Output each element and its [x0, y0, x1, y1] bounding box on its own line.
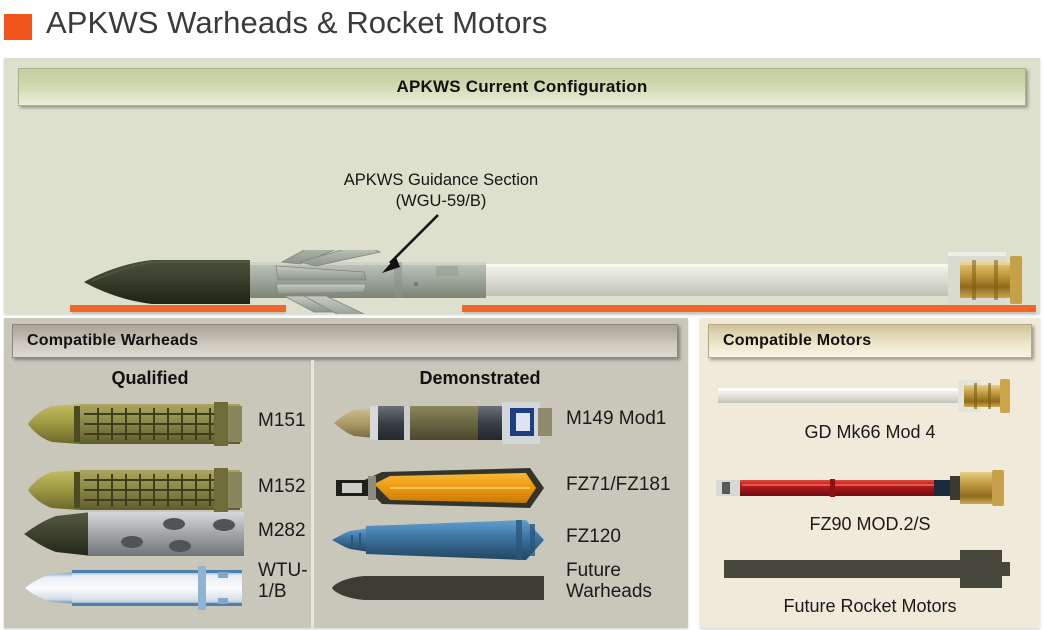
motor-label-future-rocket-motors: Future Rocket Motors [700, 596, 1040, 617]
callout-arrow-icon [374, 213, 444, 275]
gd-mk66-mod4-motor-icon [712, 376, 1022, 416]
future-warheads-silhouette-icon [330, 562, 560, 614]
slide-title-bar: APKWS Warheads & Rocket Motors [0, 0, 1044, 56]
motor-row-fz90-mod2s[interactable]: FZ90 MOD.2/S [700, 468, 1040, 538]
motor-label-fz90-mod2s: FZ90 MOD.2/S [700, 514, 1040, 535]
m151-warhead-icon [22, 398, 252, 450]
warhead-row-fz71-fz181[interactable]: FZ71/FZ181 [330, 462, 670, 514]
warhead-label-fz120: FZ120 [566, 526, 621, 547]
config-panel-header: APKWS Current Configuration [18, 68, 1026, 106]
demonstrated-column-title: Demonstrated [330, 368, 630, 389]
warhead-section-underline [70, 305, 286, 312]
warhead-row-wtu-1b[interactable]: WTU- 1/B [22, 562, 292, 614]
warhead-label-future-line1: Future [566, 560, 652, 581]
warhead-label-m282: M282 [258, 520, 306, 541]
fz71-fz181-warhead-icon [330, 462, 560, 514]
motor-label-gd-mk66-mod4: GD Mk66 Mod 4 [700, 422, 1040, 443]
warhead-label-m149-mod1: M149 Mod1 [566, 408, 666, 429]
warhead-label-future-warheads: Future Warheads [566, 560, 652, 603]
motor-section-underline [462, 305, 1036, 312]
warheads-panel-header-label: Compatible Warheads [13, 332, 198, 350]
guidance-section-callout: APKWS Guidance Section (WGU-59/B) [316, 170, 566, 212]
qualified-column-title: Qualified [20, 368, 280, 389]
future-rocket-motors-silhouette-icon [712, 548, 1022, 590]
warhead-label-m151: M151 [258, 410, 306, 431]
motors-panel-header-label: Compatible Motors [709, 332, 871, 350]
warhead-row-m151[interactable]: M151 [22, 398, 292, 450]
config-panel-header-label: APKWS Current Configuration [397, 77, 648, 97]
fz120-warhead-icon [330, 514, 560, 566]
warhead-label-wtu-1b-line1: WTU- [258, 560, 308, 581]
m282-warhead-icon [22, 508, 252, 560]
title-accent-marker-icon [4, 14, 32, 40]
warheads-column-divider [311, 360, 314, 628]
warhead-row-future-warheads[interactable]: Future Warheads [330, 562, 670, 614]
warhead-row-fz120[interactable]: FZ120 [330, 514, 670, 566]
warheads-panel-header: Compatible Warheads [12, 324, 678, 358]
warhead-label-wtu-1b: WTU- 1/B [258, 560, 308, 603]
fz90-mod2s-motor-icon [712, 468, 1022, 508]
callout-line-2: (WGU-59/B) [316, 191, 566, 212]
page-title: APKWS Warheads & Rocket Motors [46, 5, 547, 41]
m149-mod1-warhead-icon [330, 396, 560, 448]
warhead-label-fz71-fz181: FZ71/FZ181 [566, 474, 671, 495]
warhead-label-future-line2: Warheads [566, 581, 652, 602]
warhead-label-m152: M152 [258, 476, 306, 497]
motor-row-gd-mk66-mod4[interactable]: GD Mk66 Mod 4 [700, 376, 1040, 446]
wtu-1b-warhead-icon [22, 562, 252, 614]
warhead-label-wtu-1b-line2: 1/B [258, 581, 308, 602]
motors-panel-header: Compatible Motors [708, 324, 1032, 358]
apkws-current-configuration-panel: APKWS Current Configuration [4, 58, 1040, 314]
warhead-row-m149-mod1[interactable]: M149 Mod1 [330, 396, 670, 448]
callout-line-1: APKWS Guidance Section [316, 170, 566, 191]
motor-row-future-rocket-motors[interactable]: Future Rocket Motors [700, 548, 1040, 618]
warhead-row-m282[interactable]: M282 [22, 508, 292, 560]
